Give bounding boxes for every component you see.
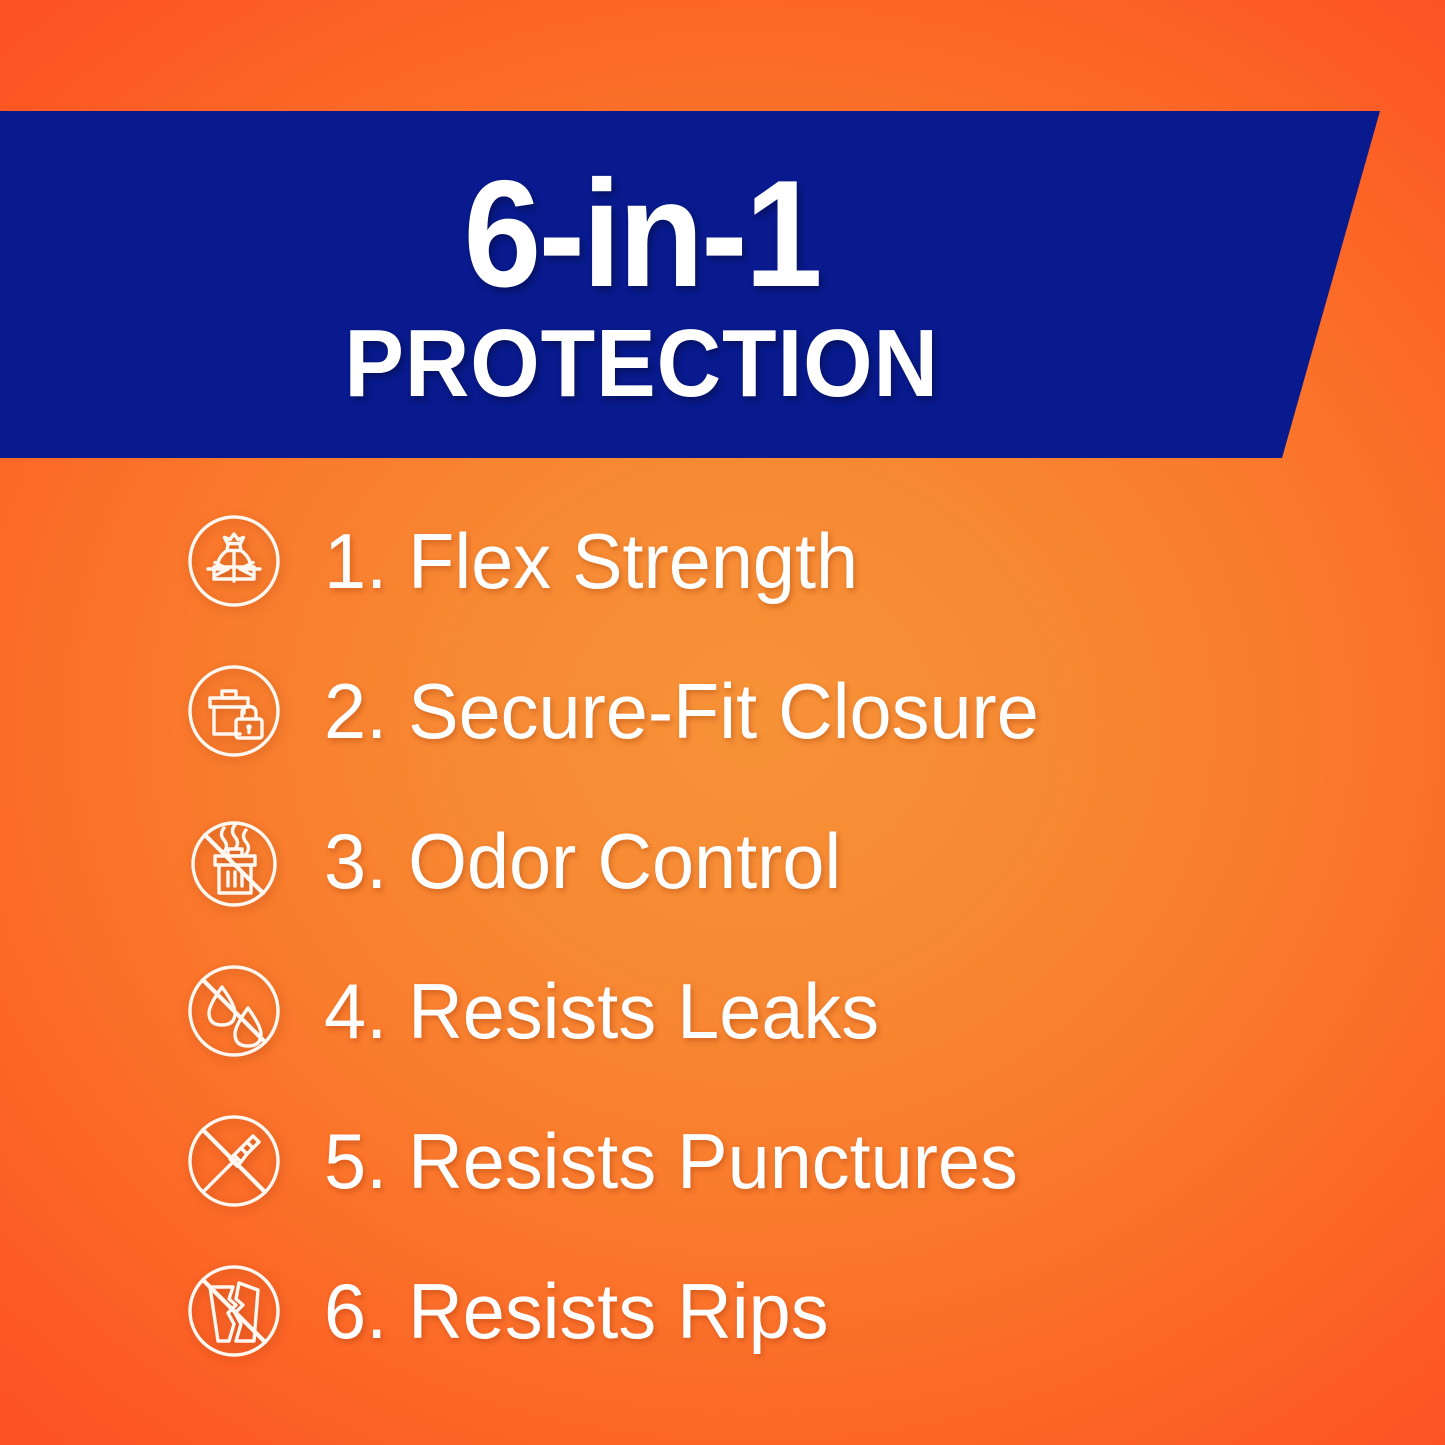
list-item: 4. Resists Leaks — [0, 936, 1445, 1086]
feature-label: 5. Resists Punctures — [324, 1122, 1018, 1200]
trash-can-padlock-icon — [184, 661, 284, 761]
no-puncture-screwdriver-icon — [184, 1111, 284, 1211]
feature-label: 1. Flex Strength — [324, 522, 858, 600]
product-feature-poster: 6-in-1 PROTECTION 1. Flex Strength — [0, 0, 1445, 1445]
list-item: 1. Flex Strength — [0, 486, 1445, 636]
headline-banner-content: 6-in-1 PROTECTION — [0, 111, 1283, 458]
no-odor-trash-can-icon — [184, 811, 284, 911]
trash-bag-stretch-arrows-icon — [184, 511, 284, 611]
feature-label: 3. Odor Control — [324, 822, 841, 900]
list-item: 5. Resists Punctures — [0, 1086, 1445, 1236]
list-item: 2. Secure-Fit Closure — [0, 636, 1445, 786]
feature-label: 6. Resists Rips — [324, 1272, 829, 1350]
no-leak-drops-icon — [184, 961, 284, 1061]
feature-label: 4. Resists Leaks — [324, 972, 879, 1050]
headline-banner: 6-in-1 PROTECTION — [0, 111, 1380, 458]
list-item: 3. Odor Control — [0, 786, 1445, 936]
page-subtitle: PROTECTION — [344, 316, 939, 412]
no-rip-torn-bag-icon — [184, 1261, 284, 1361]
feature-list: 1. Flex Strength 2. Secure-Fit Closure — [0, 486, 1445, 1386]
feature-label: 2. Secure-Fit Closure — [324, 672, 1039, 750]
list-item: 6. Resists Rips — [0, 1236, 1445, 1386]
page-title: 6-in-1 — [463, 158, 819, 310]
